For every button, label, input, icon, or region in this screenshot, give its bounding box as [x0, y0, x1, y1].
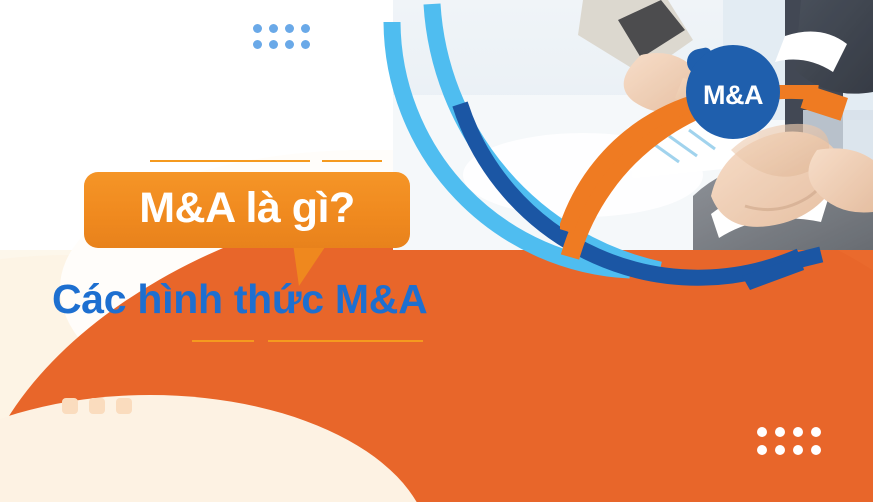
dot: [811, 445, 821, 455]
dot-grid-top: [253, 24, 310, 49]
rule-above-callout-left: [150, 160, 310, 162]
dot: [793, 427, 803, 437]
rule-below-headline-left: [192, 340, 254, 342]
dot: [269, 40, 278, 49]
rule-below-headline-right: [268, 340, 423, 342]
callout-label: M&A là gì?: [84, 172, 410, 248]
square: [116, 398, 132, 414]
dot: [301, 24, 310, 33]
dot: [285, 24, 294, 33]
peach-squares-decoration: [62, 398, 132, 414]
dot: [757, 427, 767, 437]
ma-badge-label: M&A: [686, 45, 780, 139]
ma-banner: M&A M&A là gì? Các hình thức M&A: [0, 0, 873, 502]
rule-above-callout-right: [322, 160, 382, 162]
square: [62, 398, 78, 414]
dot: [253, 24, 262, 33]
ma-badge: M&A: [686, 45, 780, 139]
dot: [269, 24, 278, 33]
dot: [775, 445, 785, 455]
dot: [757, 445, 767, 455]
callout-box: M&A là gì?: [84, 172, 410, 248]
dot: [253, 40, 262, 49]
dot: [811, 427, 821, 437]
square: [89, 398, 105, 414]
dot: [793, 445, 803, 455]
dot-grid-bottom: [757, 427, 821, 455]
dot: [301, 40, 310, 49]
page-title: Các hình thức M&A: [52, 276, 482, 323]
dot: [775, 427, 785, 437]
dot: [285, 40, 294, 49]
